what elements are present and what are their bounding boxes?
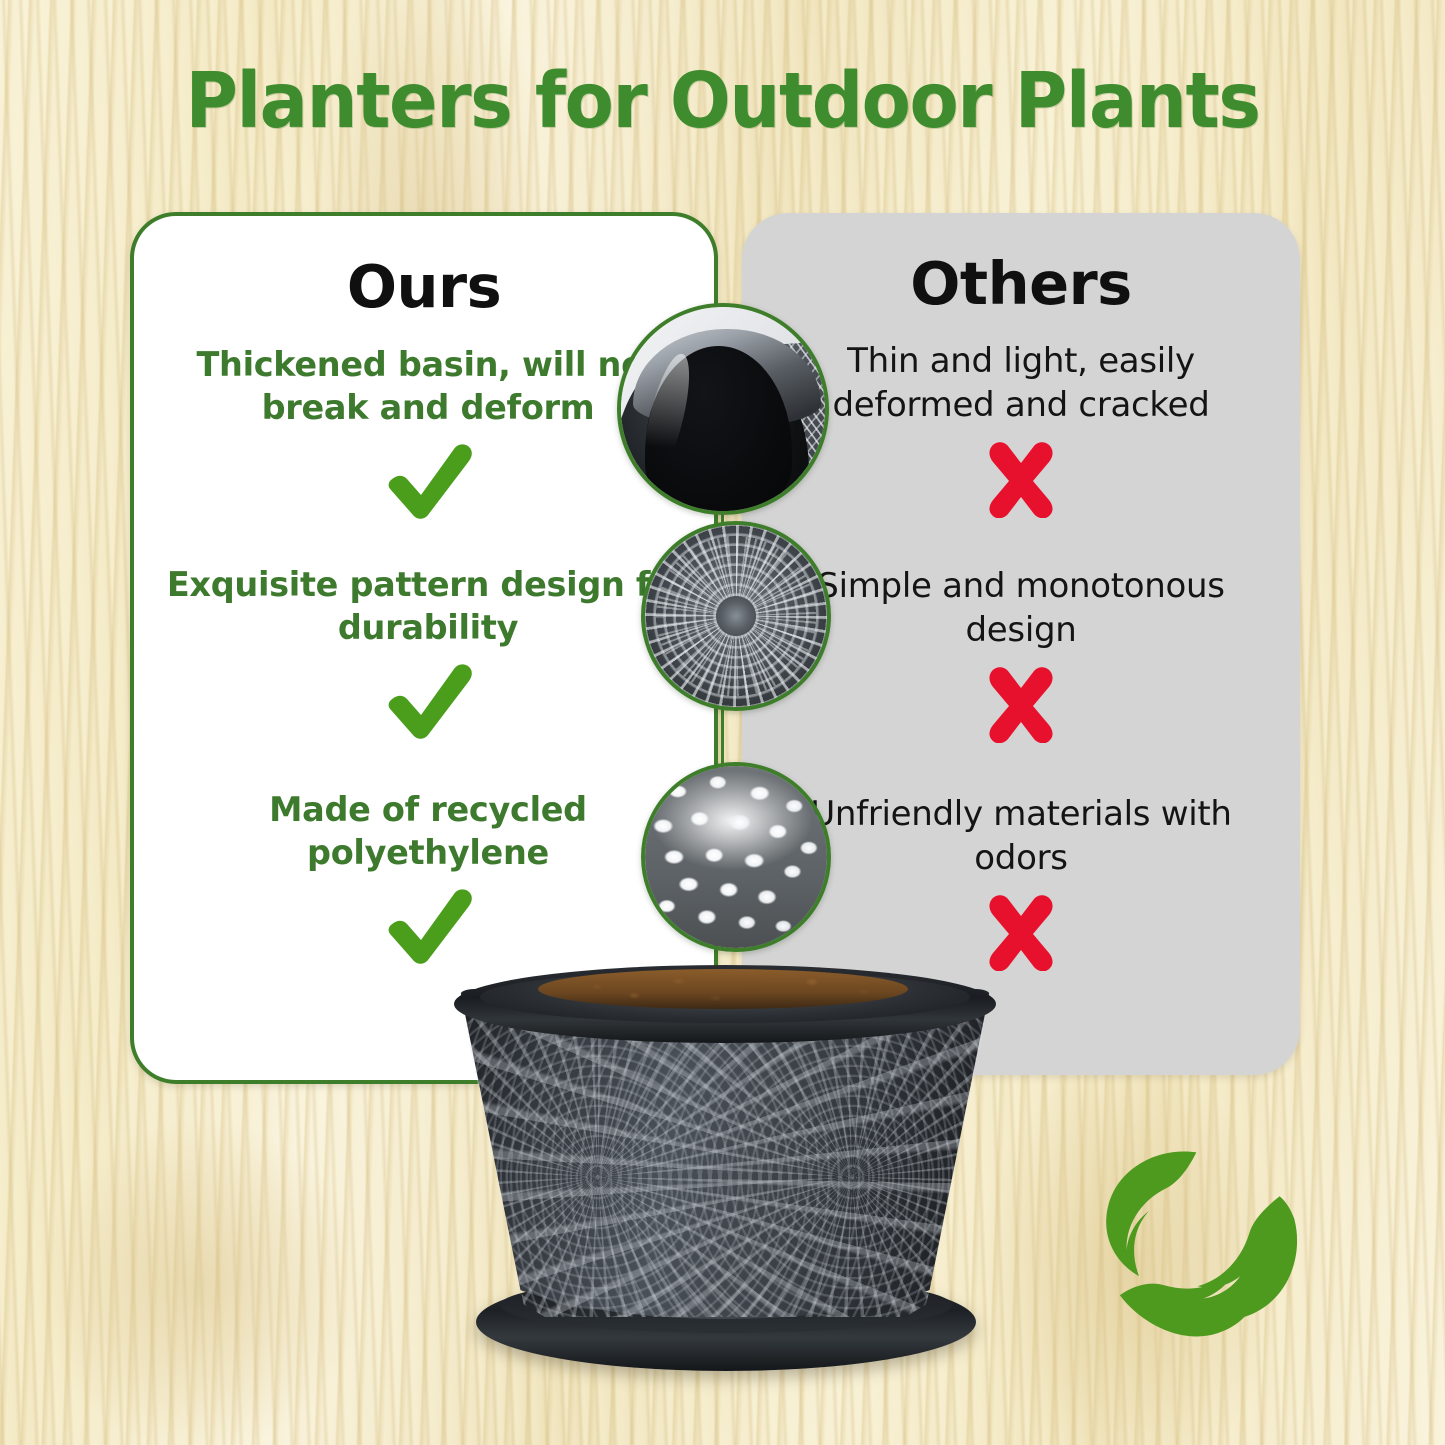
feature-text-ours-2: Exquisite pattern design for durability [146, 563, 710, 649]
leaf-top-left [1106, 1151, 1196, 1276]
detail-circle-swirl-pattern: exquisite spiral surface pattern [641, 521, 831, 711]
feature-row-others-3: Unfriendly materials with odors [762, 793, 1280, 971]
check-icon [146, 657, 710, 739]
feature-row-others-2: Simple and monotonous design [762, 565, 1280, 743]
feature-row-others-1: Thin and light, easily deformed and crac… [762, 340, 1280, 518]
wood-knot [40, 1120, 360, 1445]
eco-recycle-leaves-logo: eco-recycle-leaves-logo [1085, 1140, 1310, 1365]
product-photo-planter: planter-pot-with-saucer [418, 955, 1030, 1385]
pot-surface-pattern [460, 999, 990, 1317]
feature-text-others-3: Unfriendly materials with odors [762, 793, 1280, 881]
feature-row-ours-2: Exquisite pattern design for durability [146, 563, 710, 739]
cross-icon [762, 436, 1280, 518]
feature-text-ours-3: Made of recycled polyethylene [146, 788, 710, 874]
detail-circle-polyethylene-pellets: recycled polyethylene resin pellets [641, 762, 831, 952]
detail-circle-thick-rim: thickened pot rim close-up [617, 303, 829, 515]
feature-row-ours-3: Made of recycled polyethylene [146, 788, 710, 964]
feature-text-others-2: Simple and monotonous design [762, 565, 1280, 653]
page-title: Planters for Outdoor Plants [51, 57, 1395, 146]
cross-icon [762, 661, 1280, 743]
pot-soil [538, 969, 908, 1009]
infographic-canvas: Planters for Outdoor Plants Ours Thicken… [0, 0, 1445, 1445]
check-icon [146, 882, 710, 964]
feature-text-others-1: Thin and light, easily deformed and crac… [762, 340, 1280, 428]
column-header-others: Others [742, 249, 1300, 318]
